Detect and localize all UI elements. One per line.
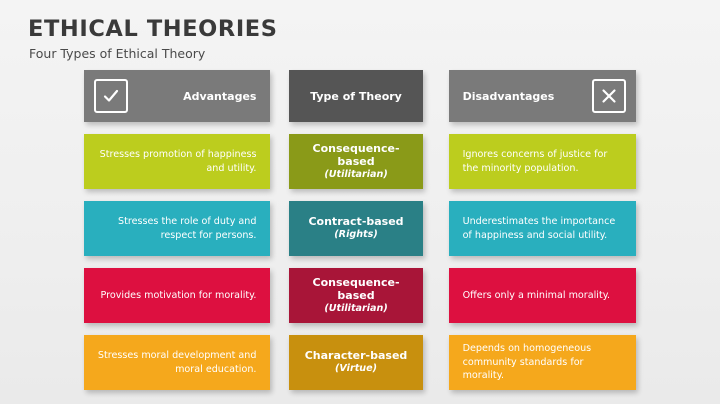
header-cell-advantages: Advantages [84,70,270,122]
advantage-cell-4: Stresses moral development and moral edu… [84,335,270,390]
table-row: Provides motivation for morality. Conseq… [84,268,636,323]
theory-cell-4: Character-based (Virtue) [289,335,422,390]
disadvantage-cell-2: Underestimates the importance of happine… [449,201,636,256]
advantage-text-4: Stresses moral development and moral edu… [96,349,256,377]
checkbox-check-icon [94,79,128,113]
advantage-cell-2: Stresses the role of duty and respect fo… [84,201,270,256]
disadvantage-text-2: Underestimates the importance of happine… [463,215,624,243]
theory-title-1: Consequence-based [295,142,416,170]
page-title: ETHICAL THEORIES [28,16,278,42]
theory-cell-2: Contract-based (Rights) [289,201,422,256]
disadvantage-text-3: Offers only a minimal morality. [463,289,611,303]
theory-subtitle-1: (Utilitarian) [324,169,387,181]
advantage-cell-1: Stresses promotion of happiness and util… [84,134,270,189]
disadvantage-cell-1: Ignores concerns of justice for the mino… [449,134,636,189]
disadvantage-text-4: Depends on homogeneous community standar… [463,342,624,384]
header-label-advantages: Advantages [183,90,256,103]
disadvantage-cell-4: Depends on homogeneous community standar… [449,335,636,390]
slide-canvas: ETHICAL THEORIES Four Types of Ethical T… [0,0,720,404]
advantage-text-2: Stresses the role of duty and respect fo… [96,215,256,243]
theory-title-2: Contract-based [308,215,403,229]
table-row: Stresses moral development and moral edu… [84,335,636,390]
comparison-table: Advantages Type of Theory Disadvantages … [84,70,636,390]
theory-subtitle-2: (Rights) [334,229,377,241]
table-row: Stresses promotion of happiness and util… [84,134,636,189]
advantage-text-3: Provides motivation for morality. [101,289,257,303]
theory-title-4: Character-based [305,349,408,363]
advantage-cell-3: Provides motivation for morality. [84,268,270,323]
header-label-disadvantages: Disadvantages [463,90,555,103]
table-row: Stresses the role of duty and respect fo… [84,201,636,256]
theory-cell-1: Consequence-based (Utilitarian) [289,134,422,189]
theory-title-3: Consequence-based [295,276,416,304]
theory-subtitle-3: (Utilitarian) [324,303,387,315]
header-cell-disadvantages: Disadvantages [449,70,636,122]
theory-cell-3: Consequence-based (Utilitarian) [289,268,422,323]
header-label-type-of-theory: Type of Theory [310,90,402,103]
table-header-row: Advantages Type of Theory Disadvantages [84,70,636,122]
page-subtitle: Four Types of Ethical Theory [29,46,205,61]
disadvantage-cell-3: Offers only a minimal morality. [449,268,636,323]
theory-subtitle-4: (Virtue) [335,363,377,375]
close-x-icon [592,79,626,113]
header-cell-type-of-theory: Type of Theory [289,70,422,122]
disadvantage-text-1: Ignores concerns of justice for the mino… [463,148,624,176]
advantage-text-1: Stresses promotion of happiness and util… [96,148,256,176]
